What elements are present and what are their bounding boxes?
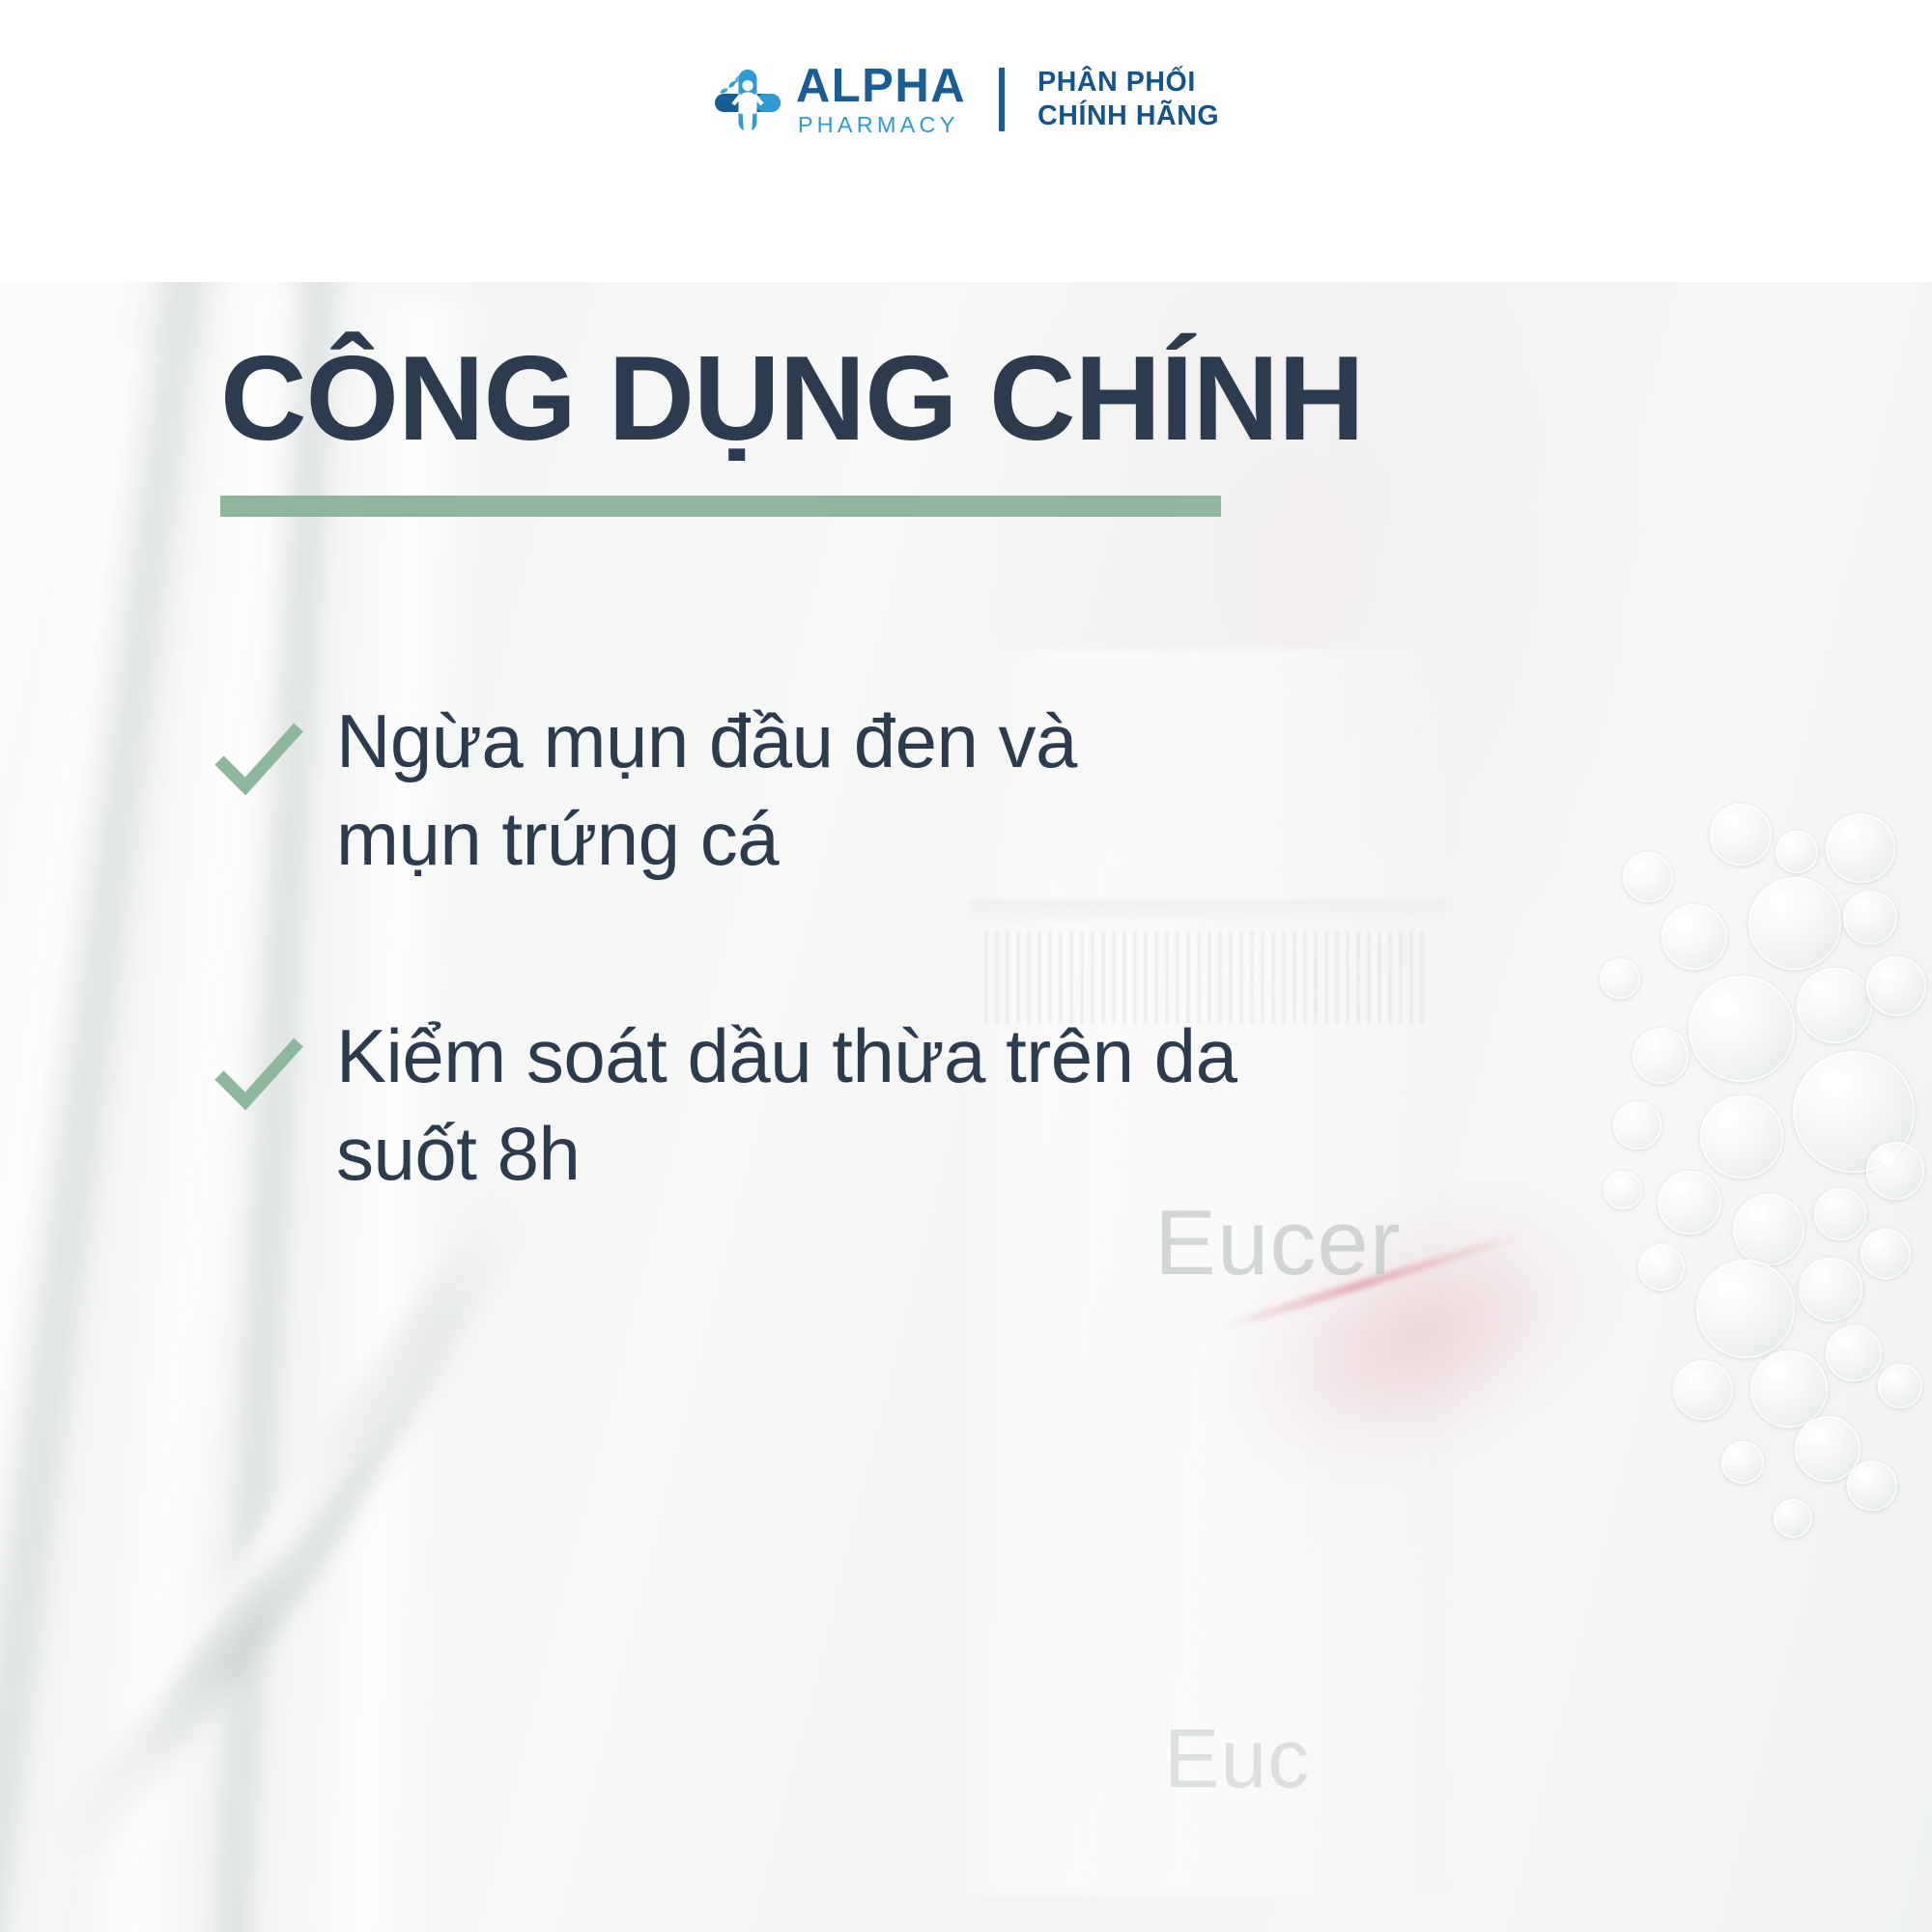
brand-divider	[999, 68, 1005, 131]
brand-lockup: ALPHA PHARMACY PHÂN PHỐI CHÍNH HÃNG	[713, 63, 1219, 137]
title-underline	[220, 496, 1221, 517]
pharmacy-cross-person-icon	[713, 65, 782, 134]
check-icon	[214, 1037, 303, 1115]
list-item-label: Kiểm soát dầu thừa trên da suốt 8h	[336, 1008, 1238, 1202]
product-watermark-text-secondary: Euc	[1164, 1712, 1310, 1807]
brand-subtitle: PHARMACY	[798, 114, 966, 137]
soap-bubbles	[1507, 823, 1932, 1615]
benefits-list: Ngừa mụn đầu đen và mụn trứng cá Kiểm so…	[214, 693, 1238, 1202]
tagline: PHÂN PHỐI CHÍNH HÃNG	[1037, 66, 1219, 133]
brand-name: ALPHA	[796, 63, 966, 110]
list-item: Kiểm soát dầu thừa trên da suốt 8h	[214, 1008, 1238, 1202]
tagline-line-1: PHÂN PHỐI	[1037, 66, 1219, 99]
list-item: Ngừa mụn đầu đen và mụn trứng cá	[214, 693, 1238, 887]
main-panel: Eucer Euc CÔNG DỤNG CH	[0, 282, 1932, 1932]
check-icon	[214, 722, 303, 800]
product-watermark-text: Eucer	[1154, 1190, 1402, 1296]
wordmark: ALPHA PHARMACY	[796, 63, 966, 137]
page-header: ALPHA PHARMACY PHÂN PHỐI CHÍNH HÃNG	[0, 0, 1932, 282]
tagline-line-2: CHÍNH HÃNG	[1037, 99, 1219, 133]
logo-group[interactable]: ALPHA PHARMACY	[713, 63, 966, 137]
page-title: CÔNG DỤNG CHÍNH	[220, 330, 1364, 468]
list-item-label: Ngừa mụn đầu đen và mụn trứng cá	[336, 693, 1238, 887]
